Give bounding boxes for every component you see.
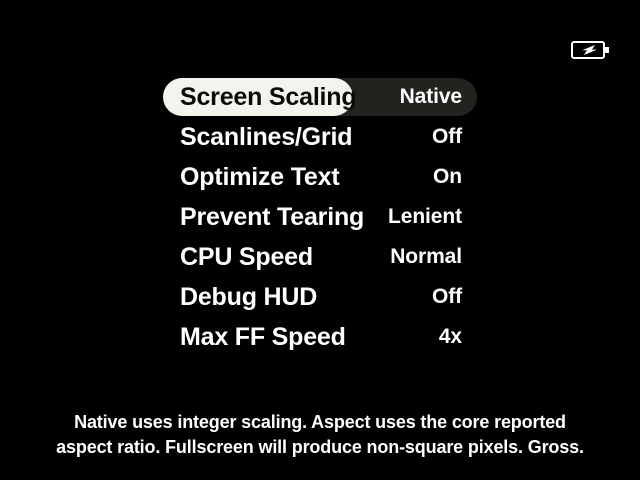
setting-row-max-ff-speed[interactable]: Max FF Speed 4x [0, 317, 640, 357]
help-text-line-1: Native uses integer scaling. Aspect uses… [0, 410, 640, 435]
setting-value[interactable]: Lenient [290, 197, 462, 237]
setting-row-prevent-tearing[interactable]: Prevent Tearing Lenient [0, 197, 640, 237]
setting-row-optimize-text[interactable]: Optimize Text On [0, 157, 640, 197]
setting-value[interactable]: Off [290, 277, 462, 317]
settings-list: Screen Scaling Native Scanlines/Grid Off… [0, 77, 640, 357]
setting-row-cpu-speed[interactable]: CPU Speed Normal [0, 237, 640, 277]
setting-value[interactable]: On [290, 157, 462, 197]
setting-value[interactable]: Normal [290, 237, 462, 277]
help-text-line-2: aspect ratio. Fullscreen will produce no… [0, 435, 640, 460]
help-text: Native uses integer scaling. Aspect uses… [0, 410, 640, 460]
setting-row-debug-hud[interactable]: Debug HUD Off [0, 277, 640, 317]
setting-row-scanlines-grid[interactable]: Scanlines/Grid Off [0, 117, 640, 157]
settings-screen: Screen Scaling Native Scanlines/Grid Off… [0, 0, 640, 480]
status-bar [0, 0, 640, 72]
setting-row-screen-scaling[interactable]: Screen Scaling Native [0, 77, 640, 117]
battery-charging-icon [571, 41, 609, 59]
setting-value[interactable]: Native [290, 77, 462, 117]
setting-value[interactable]: 4x [290, 317, 462, 357]
setting-value[interactable]: Off [290, 117, 462, 157]
